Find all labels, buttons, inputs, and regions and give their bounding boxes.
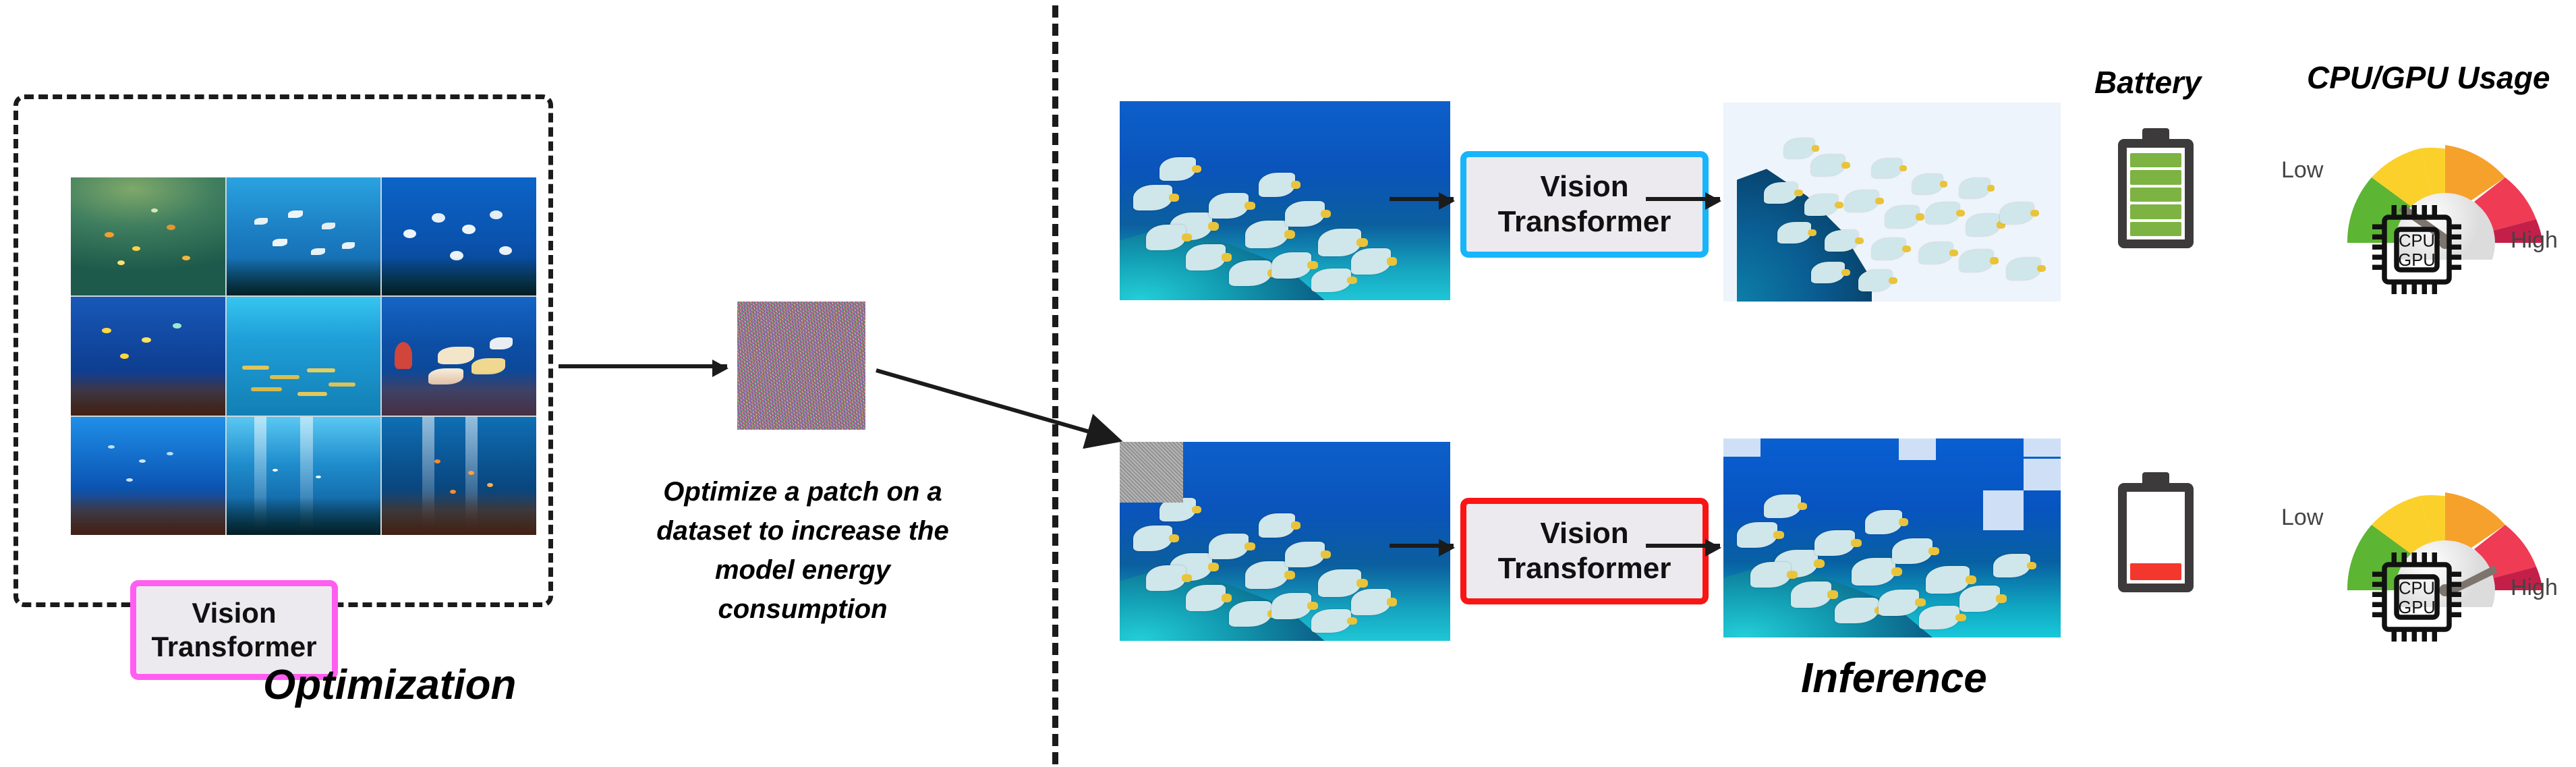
- cpu-gpu-gauge-low: Low High: [2334, 118, 2556, 287]
- figure-canvas: Vision Transformer Optimization Optimize…: [0, 0, 2576, 767]
- inference-panel-label: Inference: [1801, 654, 1987, 702]
- adversarial-patch: [737, 302, 865, 430]
- arrow-model-to-clean-output: [1646, 197, 1720, 201]
- clean-output-token-map: [1723, 103, 2061, 302]
- arrow-clean-input-to-model: [1390, 197, 1454, 201]
- chip-label-gpu: GPU: [2398, 598, 2435, 617]
- cpu-gpu-chip-icon: CPU GPU: [2366, 546, 2467, 648]
- cpu-gpu-chip-icon: CPU GPU: [2366, 199, 2467, 300]
- dataset-image-2: [227, 177, 381, 295]
- dataset-image-grid: [71, 177, 536, 535]
- vit-label-line1: Vision: [1540, 516, 1628, 551]
- dataset-image-1: [71, 177, 225, 295]
- dataset-image-6: [382, 297, 536, 415]
- cpu-gpu-gauge-high: Low High: [2334, 465, 2556, 634]
- gauge-low-label: Low: [2281, 505, 2323, 531]
- vit-label-line2: Transformer: [151, 630, 316, 664]
- gauge-high-label: High: [2511, 575, 2558, 601]
- dataset-image-9: [382, 417, 536, 535]
- dataset-image-4: [71, 297, 225, 415]
- attacked-input-image: [1120, 442, 1450, 641]
- vision-transformer-box-clean[interactable]: Vision Transformer: [1460, 151, 1709, 258]
- arrow-patch-to-attacked-input: [874, 368, 1130, 449]
- arrow-model-to-attacked-output: [1646, 544, 1720, 548]
- chip-label-cpu: CPU: [2399, 579, 2435, 598]
- chip-label-gpu: GPU: [2398, 251, 2435, 270]
- dataset-image-7: [71, 417, 225, 535]
- vit-label-line2: Transformer: [1498, 551, 1671, 586]
- battery-icon-low: [2118, 472, 2194, 592]
- gauge-high-label: High: [2511, 227, 2558, 254]
- dataset-image-8: [227, 417, 381, 535]
- applied-adversarial-patch: [1120, 442, 1183, 503]
- dataset-image-3: [382, 177, 536, 295]
- dataset-image-5: [227, 297, 381, 415]
- vit-label-line1: Vision: [192, 596, 276, 630]
- gauge-low-label: Low: [2281, 157, 2323, 183]
- vision-transformer-box-attacked[interactable]: Vision Transformer: [1460, 498, 1709, 604]
- arrow-attacked-input-to-model: [1390, 544, 1454, 548]
- cpu-gpu-column-title: CPU/GPU Usage: [2307, 59, 2550, 96]
- arrow-dataset-to-patch: [559, 364, 727, 368]
- vit-label-line1: Vision: [1540, 169, 1628, 204]
- chip-label-cpu: CPU: [2399, 232, 2435, 251]
- battery-column-title: Battery: [2094, 64, 2202, 101]
- panel-divider: [1052, 5, 1058, 764]
- battery-icon-full: [2118, 128, 2194, 248]
- patch-caption: Optimize a patch on a dataset to increas…: [627, 472, 978, 629]
- attacked-output-token-map: [1723, 438, 2061, 637]
- vit-label-line2: Transformer: [1498, 204, 1671, 239]
- optimization-panel-label: Optimization: [263, 661, 516, 709]
